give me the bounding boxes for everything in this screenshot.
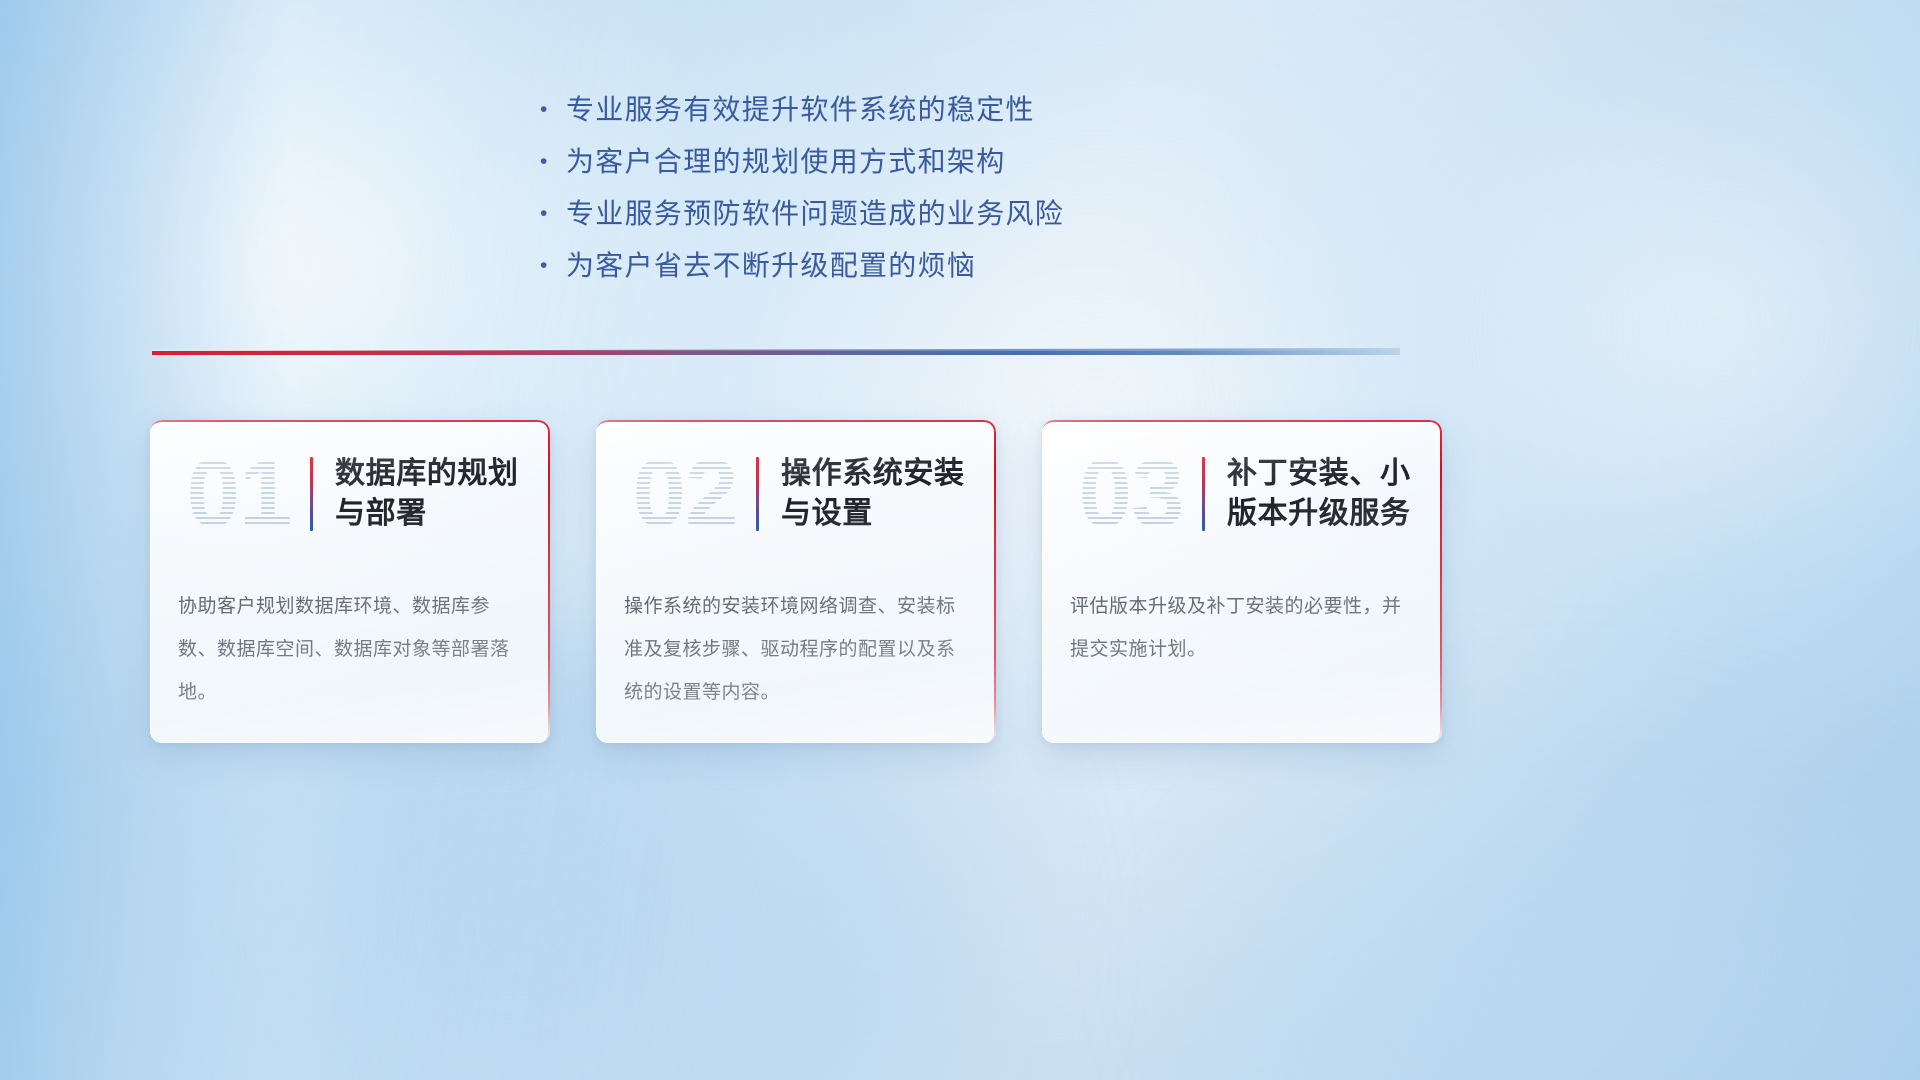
title-accent-bar xyxy=(310,457,313,531)
card-title: 操作系统安装与设置 xyxy=(781,454,976,534)
bullet-item-label: 专业服务有效提升软件系统的稳定性 xyxy=(566,88,1035,128)
list-item: • 为客户合理的规划使用方式和架构 xyxy=(540,140,1370,192)
card-number-watermark: 01 xyxy=(176,442,302,546)
section-divider xyxy=(152,340,1400,362)
list-item: • 专业服务有效提升软件系统的稳定性 xyxy=(540,88,1370,140)
service-card-grid: 01 数据库的规划与部署 协助客户规划数据库环境、数据库参数、数据库空间、数据库… xyxy=(150,420,1442,743)
bullet-dot-icon: • xyxy=(540,203,566,224)
bullet-item-label: 专业服务预防软件问题造成的业务风险 xyxy=(566,192,1064,232)
bullet-dot-icon: • xyxy=(540,99,566,120)
card-title: 数据库的规划与部署 xyxy=(335,454,530,534)
card-description: 评估版本升级及补丁安装的必要性，并提交实施计划。 xyxy=(1042,568,1442,672)
bullet-dot-icon: • xyxy=(540,255,566,276)
service-card-02[interactable]: 02 操作系统安装与设置 操作系统的安装环境网络调查、安装标准及复核步骤、驱动程… xyxy=(596,420,996,743)
bullet-item-label: 为客户省去不断升级配置的烦恼 xyxy=(566,244,976,284)
card-title: 补丁安装、小版本升级服务 xyxy=(1227,454,1422,534)
card-header: 02 操作系统安装与设置 xyxy=(596,420,996,568)
benefits-bullet-list: • 专业服务有效提升软件系统的稳定性 • 为客户合理的规划使用方式和架构 • 专… xyxy=(540,88,1370,296)
service-card-01[interactable]: 01 数据库的规划与部署 协助客户规划数据库环境、数据库参数、数据库空间、数据库… xyxy=(150,420,550,743)
title-accent-bar xyxy=(756,457,759,531)
card-description: 操作系统的安装环境网络调查、安装标准及复核步骤、驱动程序的配置以及系统的设置等内… xyxy=(596,568,996,715)
list-item: • 专业服务预防软件问题造成的业务风险 xyxy=(540,192,1370,244)
card-number-watermark: 03 xyxy=(1068,442,1194,546)
card-header: 03 补丁安装、小版本升级服务 xyxy=(1042,420,1442,568)
list-item: • 为客户省去不断升级配置的烦恼 xyxy=(540,244,1370,296)
card-number-watermark: 02 xyxy=(622,442,748,546)
bullet-item-label: 为客户合理的规划使用方式和架构 xyxy=(566,140,1006,180)
divider-highlight xyxy=(152,348,1400,351)
card-header: 01 数据库的规划与部署 xyxy=(150,420,550,568)
bullet-dot-icon: • xyxy=(540,151,566,172)
service-card-03[interactable]: 03 补丁安装、小版本升级服务 评估版本升级及补丁安装的必要性，并提交实施计划。 xyxy=(1042,420,1442,743)
card-description: 协助客户规划数据库环境、数据库参数、数据库空间、数据库对象等部署落地。 xyxy=(150,568,550,715)
title-accent-bar xyxy=(1202,457,1205,531)
